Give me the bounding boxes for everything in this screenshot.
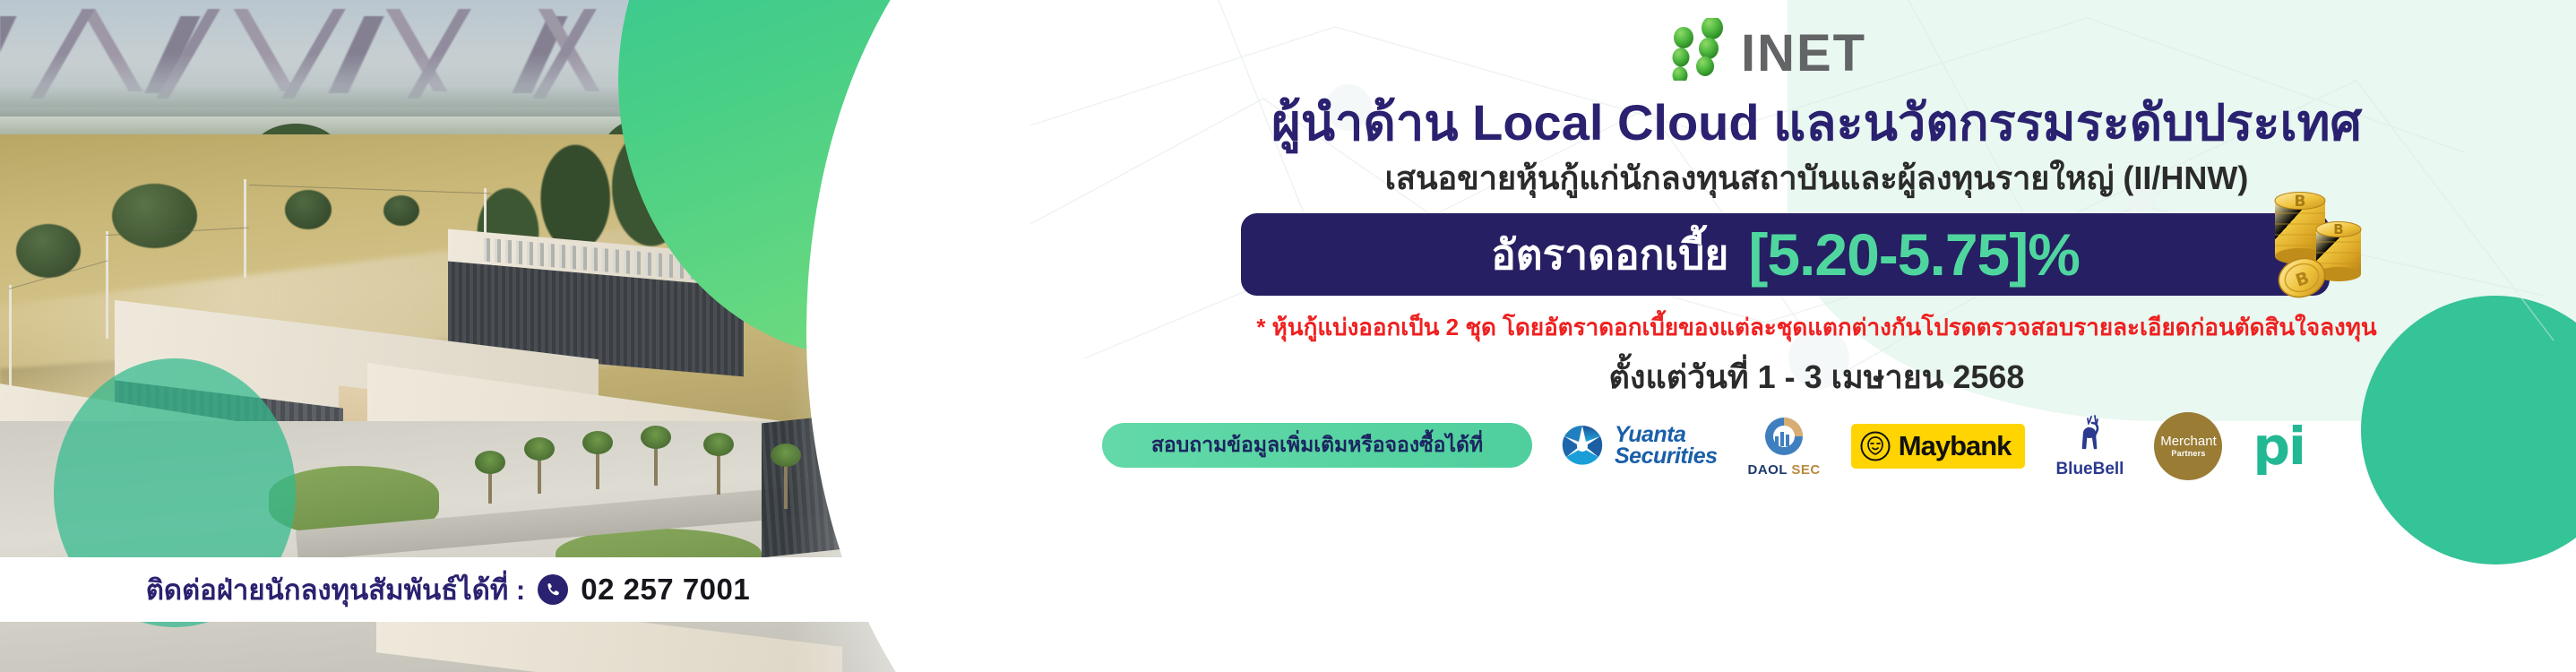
maybank-tiger-icon — [1860, 431, 1891, 461]
photo-palm-tree — [538, 452, 541, 494]
yuanta-star-icon — [1559, 423, 1606, 470]
bluebell-deer-icon — [2069, 414, 2110, 453]
inet-bond-offering-banner: INET ผู้นำด้าน Local Cloud และนวัตกรรมระ… — [0, 0, 2576, 672]
photo-utility-pole — [244, 179, 246, 278]
photo-utility-pole — [9, 285, 12, 392]
merchant-partners-badge: Merchant Partners — [2154, 412, 2222, 480]
bluebell-wordmark: BlueBell — [2055, 460, 2124, 479]
interest-rate-value: [5.20-5.75]% — [1748, 220, 2080, 289]
daol-wordmark: DAOL SEC — [1748, 462, 1821, 478]
contact-cta-label: สอบถามข้อมูลเพิ่มเติมหรือจองซื้อได้ที่ — [1151, 429, 1483, 461]
inet-logo-wordmark: INET — [1741, 23, 1866, 83]
content-column: INET ผู้นำด้าน Local Cloud และนวัตกรรมระ… — [1057, 0, 2576, 672]
partner-logo-row: Yuanta Securities DAOL — [1559, 405, 2545, 487]
photo-palm-tree — [717, 448, 720, 495]
daol-line-1: DAOL — [1748, 462, 1788, 478]
page-title: ผู้นำด้าน Local Cloud และนวัตกรรมระดับปร… — [1057, 82, 2576, 162]
svg-text:B: B — [2295, 193, 2306, 211]
pi-wordmark: pi — [2253, 426, 2304, 467]
partner-logo-yuanta-securities[interactable]: Yuanta Securities — [1559, 423, 1718, 470]
interest-rate-label: อัตราดอกเบี้ย — [1491, 222, 1728, 288]
photo-palm-tree — [654, 441, 658, 486]
partner-logo-daol-sec[interactable]: DAOL SEC — [1748, 415, 1821, 478]
maybank-wordmark: Maybank — [1899, 430, 2012, 462]
contact-label: ติดต่อฝ่ายนักลงทุนสัมพันธ์ได้ที่ : — [146, 567, 525, 612]
inet-logo: INET — [1662, 16, 1958, 81]
partner-logo-bluebell[interactable]: BlueBell — [2055, 414, 2124, 479]
interest-rate-box: อัตราดอกเบี้ย [5.20-5.75]% — [1241, 213, 2330, 296]
offering-dates: ตั้งแต่วันที่ 1 - 3 เมษายน 2568 — [1057, 351, 2576, 402]
partner-logo-maybank[interactable]: Maybank — [1851, 424, 2026, 469]
inet-green-dots-mark — [1662, 18, 1747, 81]
phone-icon — [538, 574, 568, 605]
investor-relations-contact-card: ติดต่อฝ่ายนักลงทุนสัมพันธ์ได้ที่ : 02 25… — [0, 557, 896, 622]
partner-logo-pi-securities[interactable]: pi — [2253, 426, 2304, 467]
photo-palm-tree — [784, 459, 788, 509]
disclaimer-text: * หุ้นกู้แบ่งออกเป็น 2 ชุด โดยอัตราดอกเบ… — [1057, 309, 2576, 346]
merchant-line-1: Merchant — [2160, 435, 2217, 449]
contact-cta-button[interactable]: สอบถามข้อมูลเพิ่มเติมหรือจองซื้อได้ที่ — [1102, 423, 1532, 468]
gold-coins-icon: B B B — [2262, 170, 2370, 305]
contact-phone-number: 02 257 7001 — [581, 573, 750, 607]
yuanta-line-2: Securities — [1615, 446, 1718, 468]
daol-circle-icon — [1760, 415, 1808, 458]
photo-palm-tree — [488, 466, 492, 504]
yuanta-wordmark: Yuanta Securities — [1615, 425, 1718, 468]
photo-tree — [383, 195, 419, 226]
merchant-line-2: Partners — [2171, 449, 2205, 458]
svg-text:B: B — [2333, 221, 2343, 237]
partner-logo-merchant-partners[interactable]: Merchant Partners — [2154, 412, 2222, 480]
photo-tree — [285, 190, 332, 229]
photo-building-foreground — [376, 618, 842, 672]
photo-tree — [112, 184, 197, 248]
photo-palm-tree — [596, 446, 599, 489]
photo-utility-pole — [106, 231, 108, 339]
daol-line-2: SEC — [1791, 462, 1820, 478]
